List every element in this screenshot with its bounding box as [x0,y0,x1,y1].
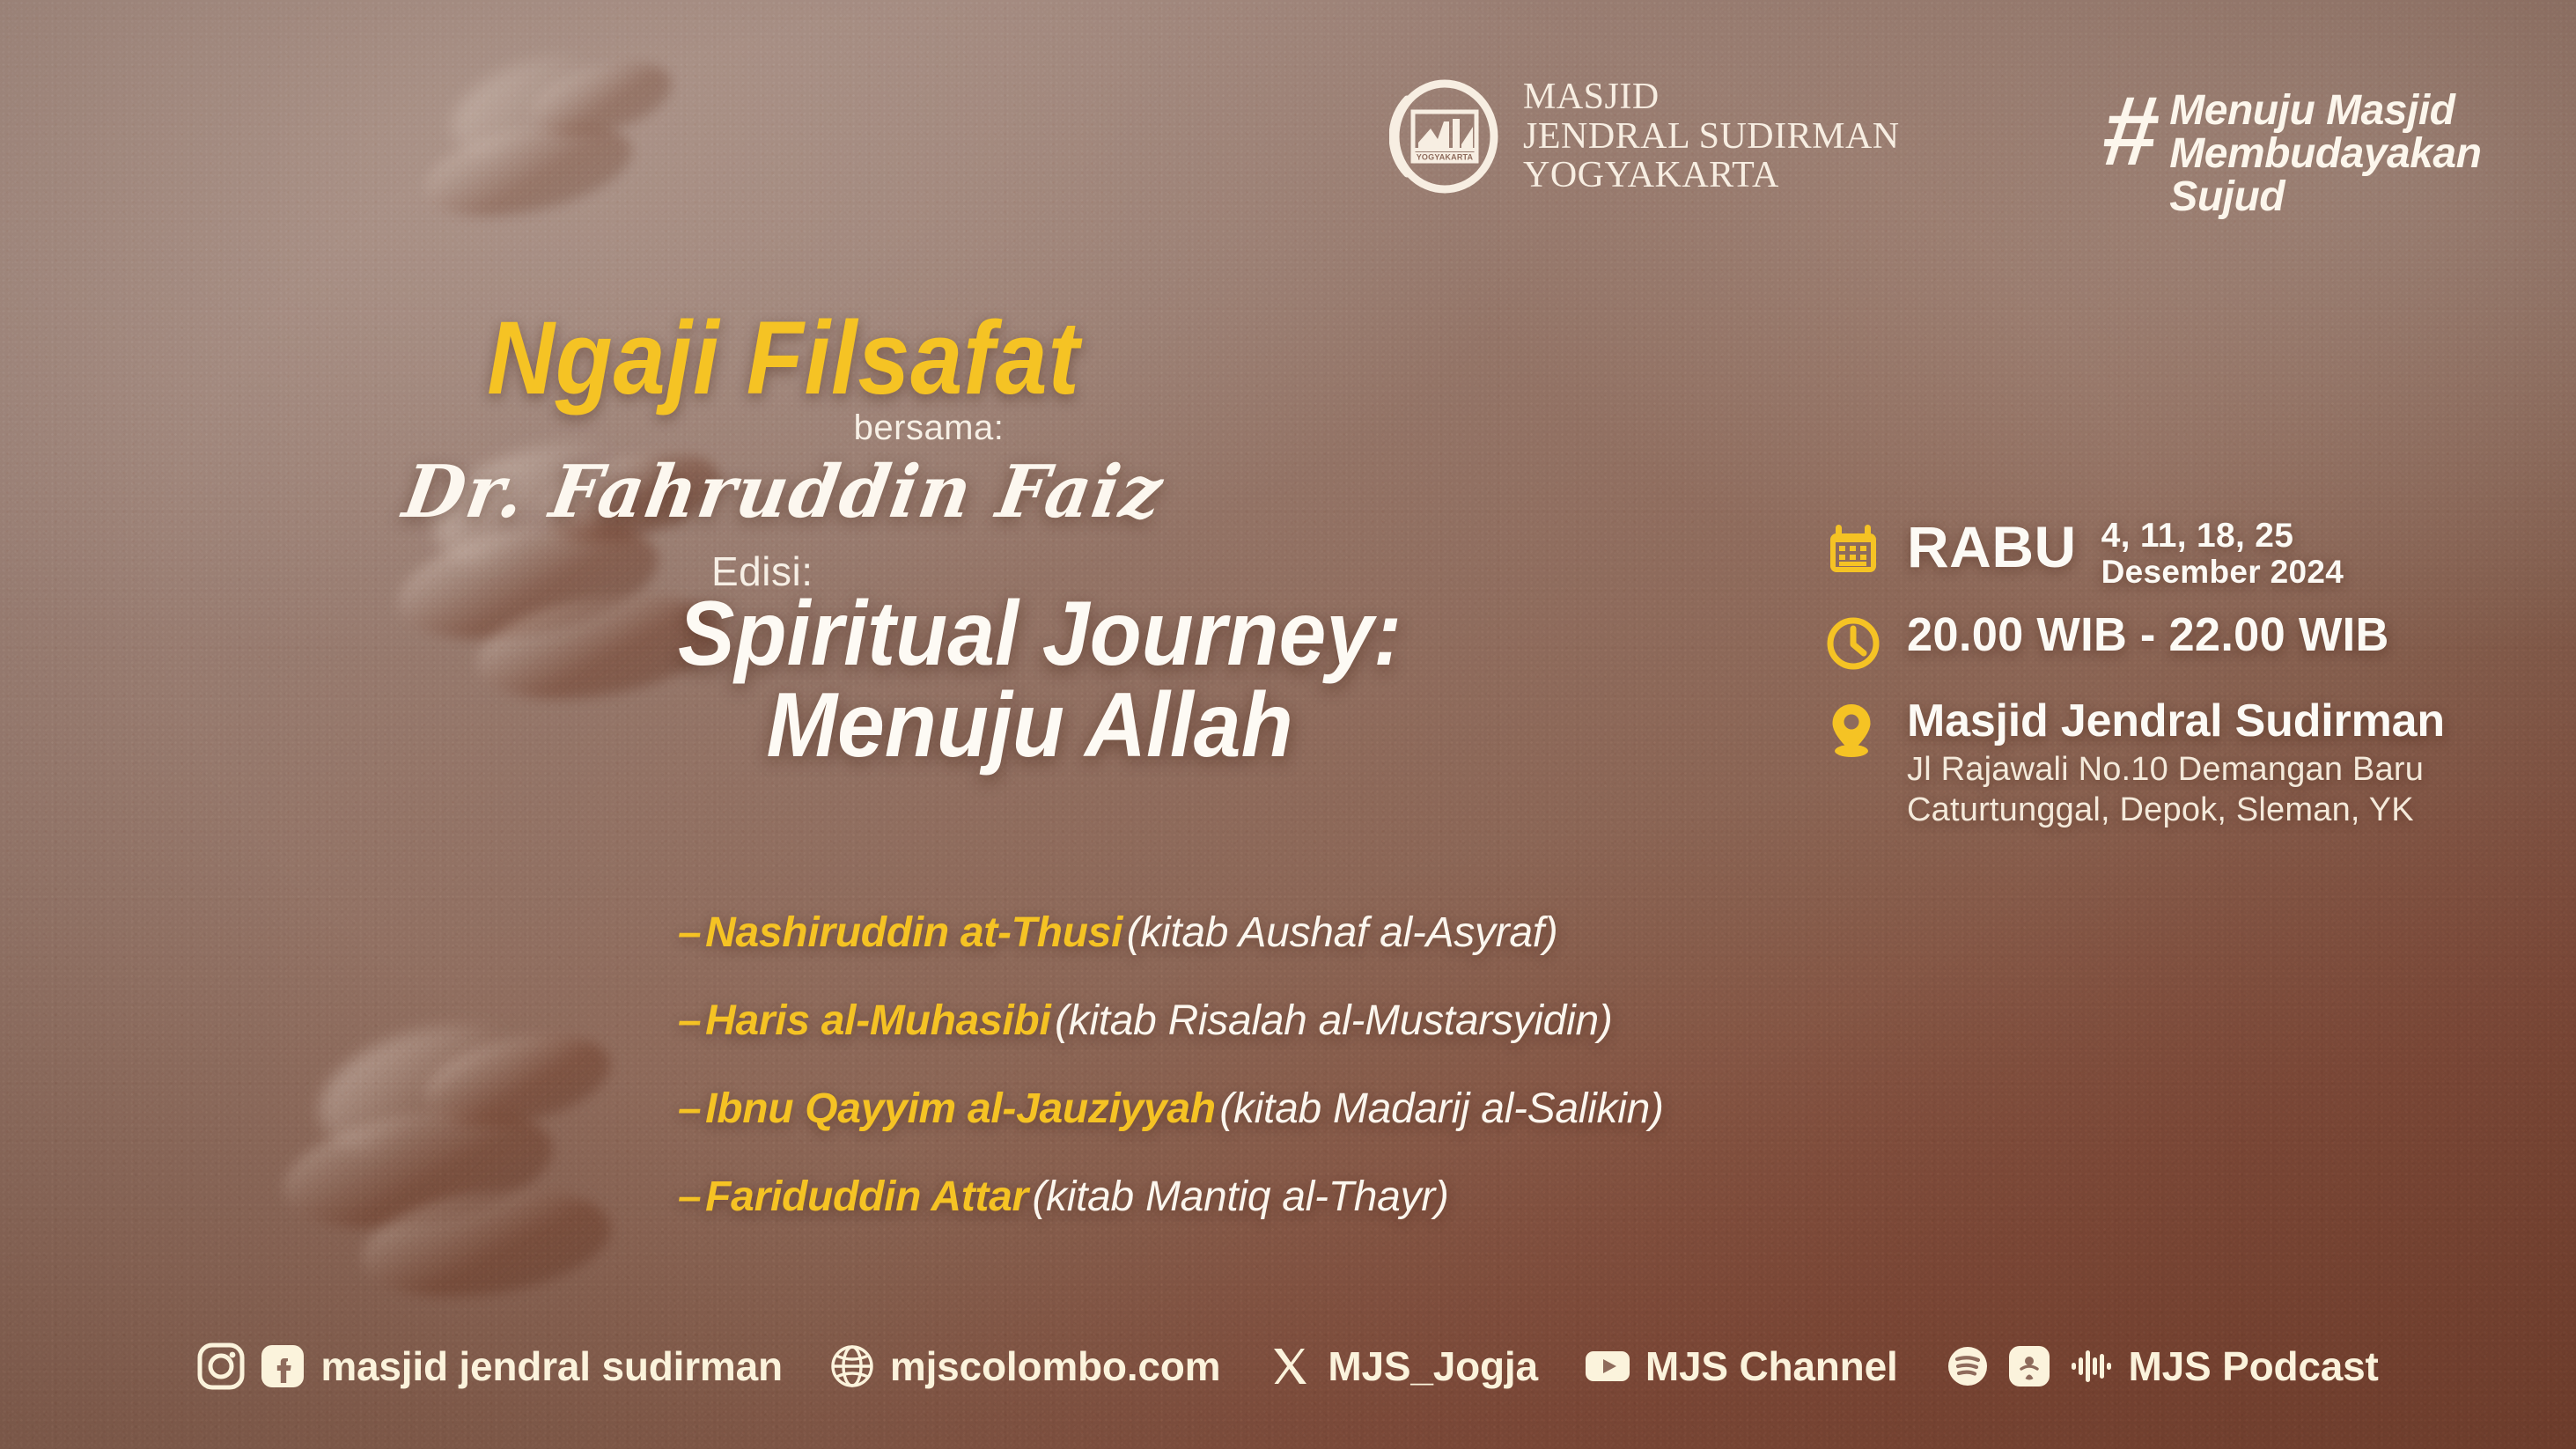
website-group[interactable]: mjscolombo.com [828,1342,1221,1390]
x-twitter-icon[interactable] [1266,1342,1314,1390]
youtube-group[interactable]: MJS Channel [1584,1342,1898,1390]
event-dates: 4, 11, 18, 25 Desember 2024 [2101,518,2344,590]
footprint-middle [264,1012,643,1312]
brand-name: MASJID JENDRAL SUDIRMAN YOGYAKARTA [1523,77,1900,195]
list-bullet: – [678,1085,702,1132]
event-month-year: Desember 2024 [2101,555,2344,590]
list-item: – Ibnu Qayyim al-Jauziyyah (kitab Madari… [678,1085,1875,1133]
edition-title-line-1: Spiritual Journey: [678,588,1546,680]
topic-author: Fariduddin Attar [705,1173,1028,1220]
program-name: Ngaji Filsafat [78,306,1489,410]
twitter-group[interactable]: MJS_Jogja [1266,1342,1538,1390]
list-bullet: – [678,997,702,1044]
poster-header: YOGYAKARTA MASJID JENDRAL SUDIRMAN YOGYA… [0,77,2576,201]
date-row: RABU 4, 11, 18, 25 Desember 2024 [1824,518,2546,590]
svg-text:YOGYAKARTA: YOGYAKARTA [1417,152,1474,161]
mosque-logo-icon: YOGYAKARTA [1389,79,1500,194]
address-line-2: Caturtunggal, Depok, Sleman, YK [1907,791,2445,831]
location-row: Masjid Jendral Sudirman Jl Rajawali No.1… [1824,695,2546,830]
hashtag-text: Menuju Masjid Membudayakan Sujud [2169,90,2481,219]
twitter-handle-label: MJS_Jogja [1328,1342,1538,1390]
globe-icon[interactable] [828,1342,876,1390]
facebook-icon[interactable] [259,1342,306,1390]
youtube-channel-label: MJS Channel [1645,1342,1898,1390]
social-handle-label: masjid jendral sudirman [320,1342,783,1390]
campaign-hashtag: # Menuju Masjid Membudayakan Sujud [2102,90,2481,219]
venue-address: Jl Rajawali No.10 Demangan Baru Caturtun… [1907,750,2445,830]
youtube-icon[interactable] [1584,1342,1631,1390]
list-item: – Fariduddin Attar (kitab Mantiq al-Thay… [678,1173,1875,1221]
list-bullet: – [678,909,702,956]
time-row: 20.00 WIB - 22.00 WIB [1824,609,2546,673]
hash-symbol-icon: # [2098,90,2161,173]
brand-line-3: YOGYAKARTA [1523,156,1900,195]
topic-author: Haris al-Muhasibi [705,997,1050,1044]
topic-kitab: (kitab Mantiq al-Thayr) [1032,1173,1448,1220]
topic-kitab: (kitab Aushaf al-Asyraf) [1127,909,1558,956]
edition-title: Spiritual Journey: Menuju Allah [678,588,1546,771]
event-info-panel: RABU 4, 11, 18, 25 Desember 2024 20.00 W… [1824,518,2546,839]
event-time: 20.00 WIB - 22.00 WIB [1907,609,2389,661]
address-line-1: Jl Rajawali No.10 Demangan Baru [1907,750,2445,791]
topic-author: Nashiruddin at-Thusi [705,909,1122,956]
clock-icon [1824,614,1882,673]
list-bullet: – [678,1173,702,1220]
calendar-icon [1824,523,1882,581]
podcast-group[interactable]: MJS Podcast [1944,1342,2379,1390]
topic-author: Ibnu Qayyim al-Jauziyyah [705,1085,1216,1132]
program-title-block: Ngaji Filsafat bersama: Dr. Fahruddin Fa… [0,306,1567,534]
event-date-numbers: 4, 11, 18, 25 [2101,518,2344,555]
edition-title-line-2: Menuju Allah [678,680,1546,771]
social-handle-group[interactable]: masjid jendral sudirman [197,1342,783,1390]
topic-kitab: (kitab Madarij al-Salikin) [1219,1085,1663,1132]
poster-canvas: YOGYAKARTA MASJID JENDRAL SUDIRMAN YOGYA… [0,0,2576,1449]
apple-podcasts-icon[interactable] [2006,1342,2053,1390]
topic-list: – Nashiruddin at-Thusi (kitab Aushaf al-… [678,908,1875,1261]
audio-waveform-icon[interactable] [2067,1342,2115,1390]
hashtag-line-2: Membudayakan [2169,133,2481,176]
brand-lockup: YOGYAKARTA MASJID JENDRAL SUDIRMAN YOGYA… [1389,77,1900,195]
event-day: RABU [1907,518,2077,576]
venue-block: Masjid Jendral Sudirman Jl Rajawali No.1… [1907,695,2445,830]
podcast-label: MJS Podcast [2129,1342,2379,1390]
location-pin-icon [1824,701,1882,759]
topic-kitab: (kitab Risalah al-Mustarsyidin) [1055,997,1613,1044]
hashtag-line-3: Sujud [2169,176,2481,219]
brand-line-1: MASJID [1523,77,1900,117]
list-item: – Haris al-Muhasibi (kitab Risalah al-Mu… [678,997,1875,1045]
instagram-icon[interactable] [197,1342,245,1390]
speaker-name: Dr. Fahruddin Faiz [17,450,1550,534]
spotify-icon[interactable] [1944,1342,1991,1390]
list-item: – Nashiruddin at-Thusi (kitab Aushaf al-… [678,908,1875,957]
hashtag-line-1: Menuju Masjid [2169,90,2481,133]
venue-name: Masjid Jendral Sudirman [1907,695,2445,747]
social-footer: masjid jendral sudirman mjscolombo.com [0,1284,2576,1449]
website-label: mjscolombo.com [890,1342,1221,1390]
brand-line-2: JENDRAL SUDIRMAN [1523,117,1900,157]
